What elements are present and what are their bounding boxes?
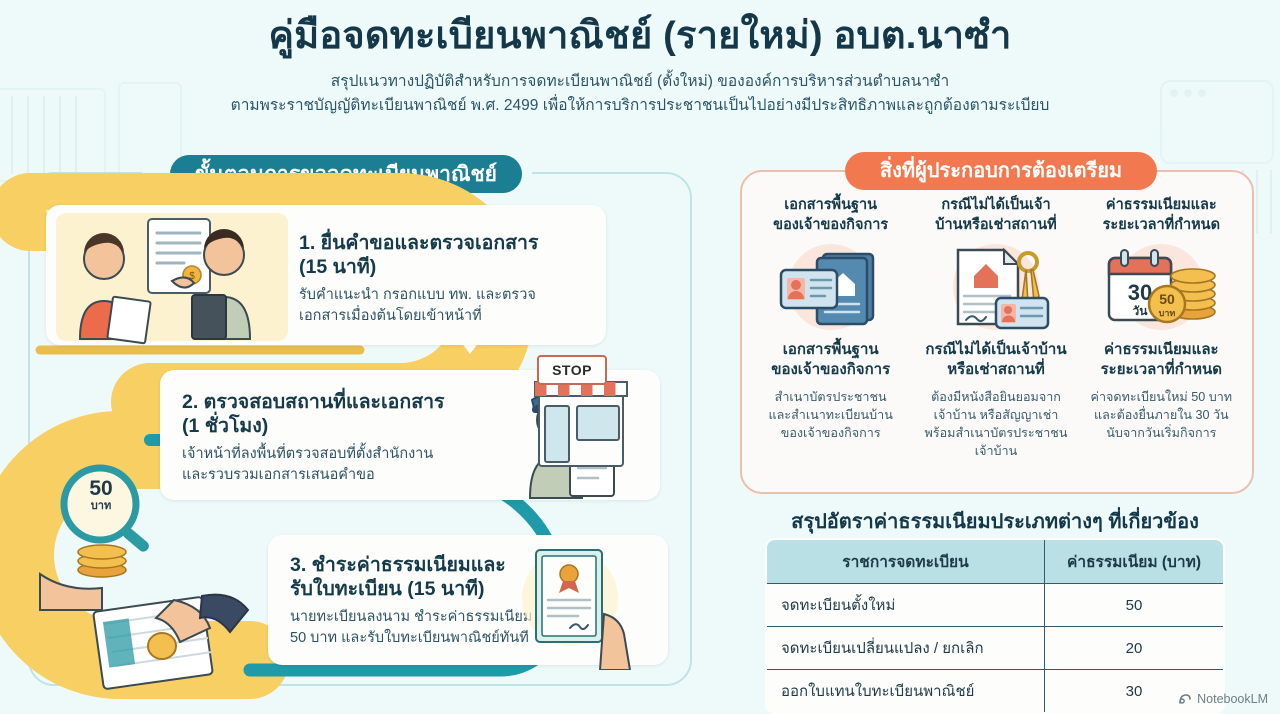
- contract-keys-id-icon: [919, 238, 1072, 338]
- requirement-card-3-desc-line-1: ค่าจดทะเบียนใหม่ 50 บาท: [1091, 390, 1233, 404]
- requirement-card-2-top-line-1: กรณีไม่ได้เป็นเจ้า: [941, 197, 1050, 213]
- requirement-card-3-desc-line-3: นับจากวันเริ่มกิจการ: [1106, 426, 1216, 440]
- step-1-title: 1. ยื่นคำขอและตรวจเอกสาร: [299, 232, 538, 254]
- watermark: NotebookLM: [1178, 692, 1268, 706]
- payment-illustration: [90, 580, 260, 690]
- requirement-card-2-title-line-1: กรณีไม่ได้เป็นเจ้าบ้าน: [925, 341, 1066, 358]
- fee-row-1-fee: 50: [1045, 584, 1225, 627]
- requirement-card-1-title: เอกสารพื้นฐาน ของเจ้าของกิจการ: [754, 340, 907, 381]
- requirement-card-2-top-label: กรณีไม่ได้เป็นเจ้า บ้านหรือเช่าสถานที่: [919, 196, 1072, 238]
- certificate-illustration: [508, 540, 638, 670]
- svg-text:บาท: บาท: [1159, 309, 1176, 319]
- fee-row-2-fee: 20: [1045, 627, 1225, 670]
- requirement-card-1-top-line-2: ของเจ้าของกิจการ: [773, 217, 888, 233]
- fee-table-title: สรุปอัตราค่าธรรมเนียมประเภทต่างๆ ที่เกี่…: [740, 505, 1250, 537]
- requirement-card-1: เอกสารพื้นฐาน ของเจ้าของกิจการ: [748, 196, 913, 461]
- requirement-card-2: กรณีไม่ได้เป็นเจ้า บ้านหรือเช่าสถานที่: [913, 196, 1078, 461]
- page-subtitle-line-1: สรุปแนวทางปฏิบัติสำหรับการจดทะเบียนพาณิช…: [0, 70, 1280, 94]
- step-1-illustration: $: [52, 207, 292, 347]
- infographic-page: คู่มือจดทะเบียนพาณิชย์ (รายใหม่) อบต.นาซ…: [0, 0, 1280, 714]
- requirement-card-1-desc-line-2: และสำเนาทะเบียนบ้าน: [768, 408, 892, 422]
- header: คู่มือจดทะเบียนพาณิชย์ (รายใหม่) อบต.นาซ…: [0, 14, 1280, 118]
- svg-text:วัน: วัน: [1133, 304, 1149, 318]
- watermark-label: NotebookLM: [1197, 692, 1268, 706]
- fee-table-header-row: ราชการจดทะเบียน ค่าธรรมเนียม (บาท): [766, 539, 1224, 584]
- step-2-desc-line-2: และรวบรวมเอกสารเสนอคำขอ: [182, 467, 375, 483]
- requirement-card-2-desc-line-2: เจ้าบ้าน หรือสัญญาเช่า: [934, 408, 1059, 422]
- step-2-desc-line-1: เจ้าหน้าที่ลงพื้นที่ตรวจสอบที่ตั้งสำนักง…: [182, 446, 433, 462]
- requirements-columns: เอกสารพื้นฐาน ของเจ้าของกิจการ: [748, 196, 1244, 461]
- table-row: จดทะเบียนตั้งใหม่ 50: [766, 584, 1224, 627]
- step-1-duration: (15 นาที): [299, 256, 376, 278]
- process-step-1-card: $ 1. ยื่นคำขอและตรวจเอกสาร (15 นาที) รับ…: [46, 205, 606, 345]
- requirement-card-3-top-line-2: ระยะเวลาที่กำหนด: [1103, 217, 1220, 233]
- requirement-card-3-title: ค่าธรรมเนียมและ ระยะเวลาที่กำหนด: [1085, 340, 1238, 381]
- table-row: จดทะเบียนเปลี่ยนแปลง / ยกเลิก 20: [766, 627, 1224, 670]
- requirement-card-1-title-line-2: ของเจ้าของกิจการ: [771, 361, 890, 378]
- calendar-and-coins-icon: 30 วัน 50 บาท: [1085, 238, 1238, 338]
- fee-table-col-name: ราชการจดทะเบียน: [766, 539, 1045, 584]
- step-1-desc-line-2: เอกสารเมื่องต้นโดยเข้าหน้าที่: [299, 308, 482, 324]
- requirement-card-1-top-line-1: เอกสารพื้นฐาน: [784, 197, 877, 213]
- page-subtitle-line-2: ตามพระราชบัญญัติทะเบียนพาณิชย์ พ.ศ. 2499…: [0, 94, 1280, 118]
- requirement-card-1-desc-line-3: ของเจ้าของกิจการ: [781, 426, 881, 440]
- requirement-card-1-desc-line-1: สำเนาบัตรประชาชน: [775, 390, 887, 404]
- requirement-card-1-top-label: เอกสารพื้นฐาน ของเจ้าของกิจการ: [754, 196, 907, 238]
- requirement-card-2-title: กรณีไม่ได้เป็นเจ้าบ้าน หรือเช่าสถานที่: [919, 340, 1072, 381]
- fee-row-2-name: จดทะเบียนเปลี่ยนแปลง / ยกเลิก: [766, 627, 1045, 670]
- notebooklm-logo-icon: [1178, 692, 1192, 706]
- step-3-desc-line-2: 50 บาท และรับใบทะเบียนพาณิชย์ทันที: [290, 630, 529, 646]
- requirements-section-title: สิ่งที่ผู้ประกอบการต้องเตรียม: [845, 152, 1157, 190]
- requirement-card-3-title-line-1: ค่าธรรมเนียมและ: [1104, 341, 1219, 358]
- requirement-card-3-title-line-2: ระยะเวลาที่กำหนด: [1101, 361, 1222, 378]
- fee-row-3-name: ออกใบแทนใบทะเบียนพาณิชย์: [766, 670, 1045, 714]
- requirement-card-3-top-line-1: ค่าธรรมเนียมและ: [1106, 197, 1217, 213]
- page-title: คู่มือจดทะเบียนพาณิชย์ (รายใหม่) อบต.นาซ…: [0, 14, 1280, 60]
- step-2-text: 2. ตรวจสอบสถานที่และเอกสาร (1 ชั่วโมง) เ…: [182, 390, 502, 486]
- step-2-title: 2. ตรวจสอบสถานที่และเอกสาร: [182, 391, 445, 413]
- step-3-duration: รับใบทะเบียน (15 นาที): [290, 578, 485, 600]
- table-row: ออกใบแทนใบทะเบียนพาณิชย์ 30: [766, 670, 1224, 714]
- requirement-card-3: ค่าธรรมเนียมและ ระยะเวลาที่กำหนด 30 วัน: [1079, 196, 1244, 461]
- step-3-title: 3. ชำระค่าธรรมเนียมและ: [290, 554, 506, 576]
- fee-table-col-fee: ค่าธรรมเนียม (บาท): [1045, 539, 1225, 584]
- requirement-card-2-top-line-2: บ้านหรือเช่าสถานที่: [935, 217, 1057, 233]
- step-2-duration: (1 ชั่วโมง): [182, 415, 268, 437]
- requirement-card-3-desc: ค่าจดทะเบียนใหม่ 50 บาท และต้องยื่นภายใน…: [1085, 388, 1238, 443]
- step-1-text: 1. ยื่นคำขอและตรวจเอกสาร (15 นาที) รับคำ…: [299, 231, 599, 327]
- requirement-card-3-top-label: ค่าธรรมเนียมและ ระยะเวลาที่กำหนด: [1085, 196, 1238, 238]
- fee-row-1-name: จดทะเบียนตั้งใหม่: [766, 584, 1045, 627]
- fee-table: ราชการจดทะเบียน ค่าธรรมเนียม (บาท) จดทะเ…: [765, 538, 1225, 714]
- requirement-card-2-desc-line-1: ต้องมีหนังสือยินยอมจาก: [931, 390, 1061, 404]
- requirement-card-2-desc: ต้องมีหนังสือยินยอมจาก เจ้าบ้าน หรือสัญญ…: [919, 388, 1072, 461]
- requirement-card-1-desc: สำเนาบัตรประชาชน และสำเนาทะเบียนบ้าน ของ…: [754, 388, 907, 443]
- stop-sign: STOP: [537, 355, 607, 385]
- requirement-card-2-desc-line-3: พร้อมสำเนาบัตรประชาชนเจ้าบ้าน: [925, 426, 1068, 458]
- step-3-desc-line-1: นายทะเบียนลงนาม ชำระค่าธรรมเนียม: [290, 609, 532, 625]
- requirement-card-1-title-line-1: เอกสารพื้นฐาน: [783, 341, 879, 358]
- step-1-desc-line-1: รับคำแนะนำ กรอกแบบ ทพ. และตรวจ: [299, 287, 536, 303]
- id-card-and-house-book-icon: [754, 238, 907, 338]
- requirement-card-3-desc-line-2: และต้องยื่นภายใน 30 วัน: [1094, 408, 1229, 422]
- svg-text:50: 50: [1160, 291, 1176, 307]
- requirement-card-2-title-line-2: หรือเช่าสถานที่: [947, 361, 1045, 378]
